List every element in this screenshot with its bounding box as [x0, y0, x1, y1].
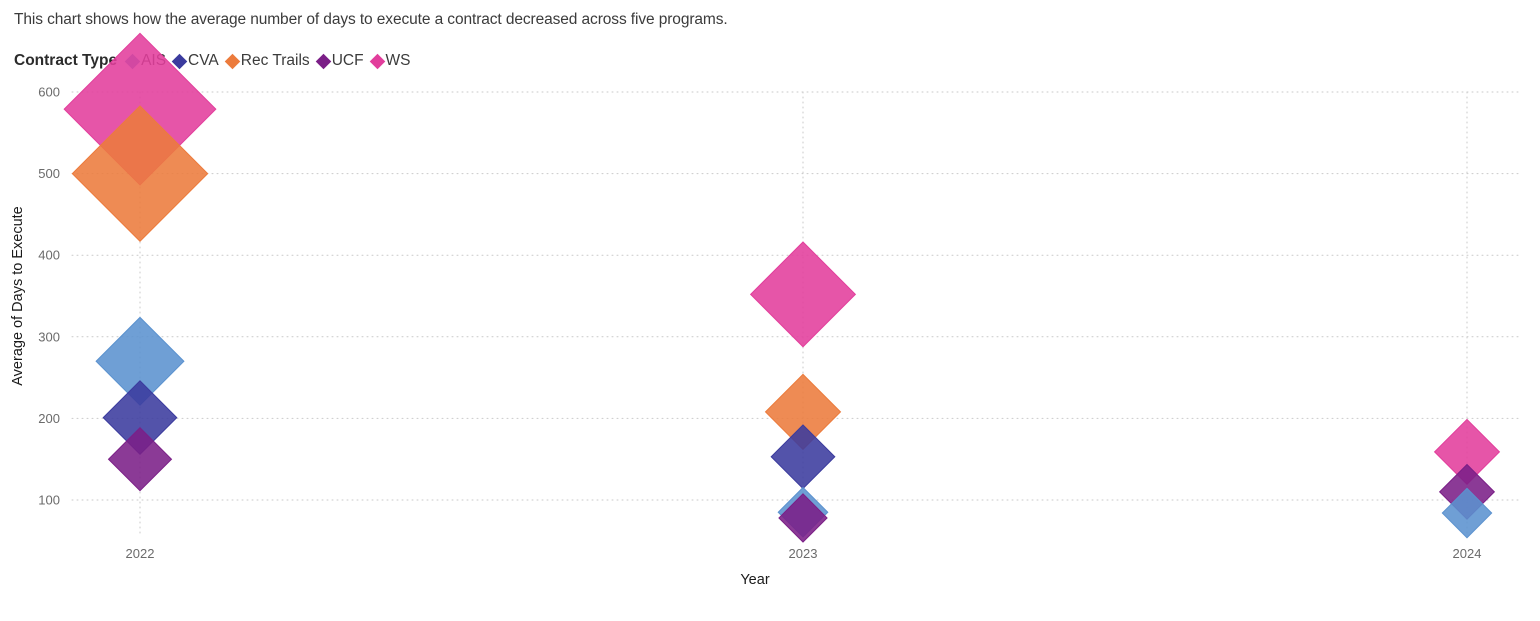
x-axis-tick-label: 2023 — [789, 546, 818, 561]
y-axis-tick-label: 500 — [38, 166, 60, 181]
data-point-marker[interactable] — [771, 425, 835, 489]
scatter-plot: 100200300400500600202220232024YearAverag… — [0, 0, 1540, 621]
data-point-marker[interactable] — [751, 242, 856, 347]
y-axis-tick-label: 600 — [38, 85, 60, 100]
y-axis-tick-label: 300 — [38, 329, 60, 344]
x-axis-title: Year — [740, 572, 769, 588]
data-point-marker[interactable] — [109, 428, 172, 491]
y-axis-tick-label: 400 — [38, 248, 60, 263]
data-point-marker[interactable] — [779, 494, 827, 542]
y-axis-tick-label: 100 — [38, 493, 60, 508]
x-axis-tick-label: 2024 — [1453, 546, 1482, 561]
y-axis-tick-label: 200 — [38, 411, 60, 426]
y-axis-title: Average of Days to Execute — [10, 206, 26, 385]
x-axis-tick-label: 2022 — [126, 546, 155, 561]
